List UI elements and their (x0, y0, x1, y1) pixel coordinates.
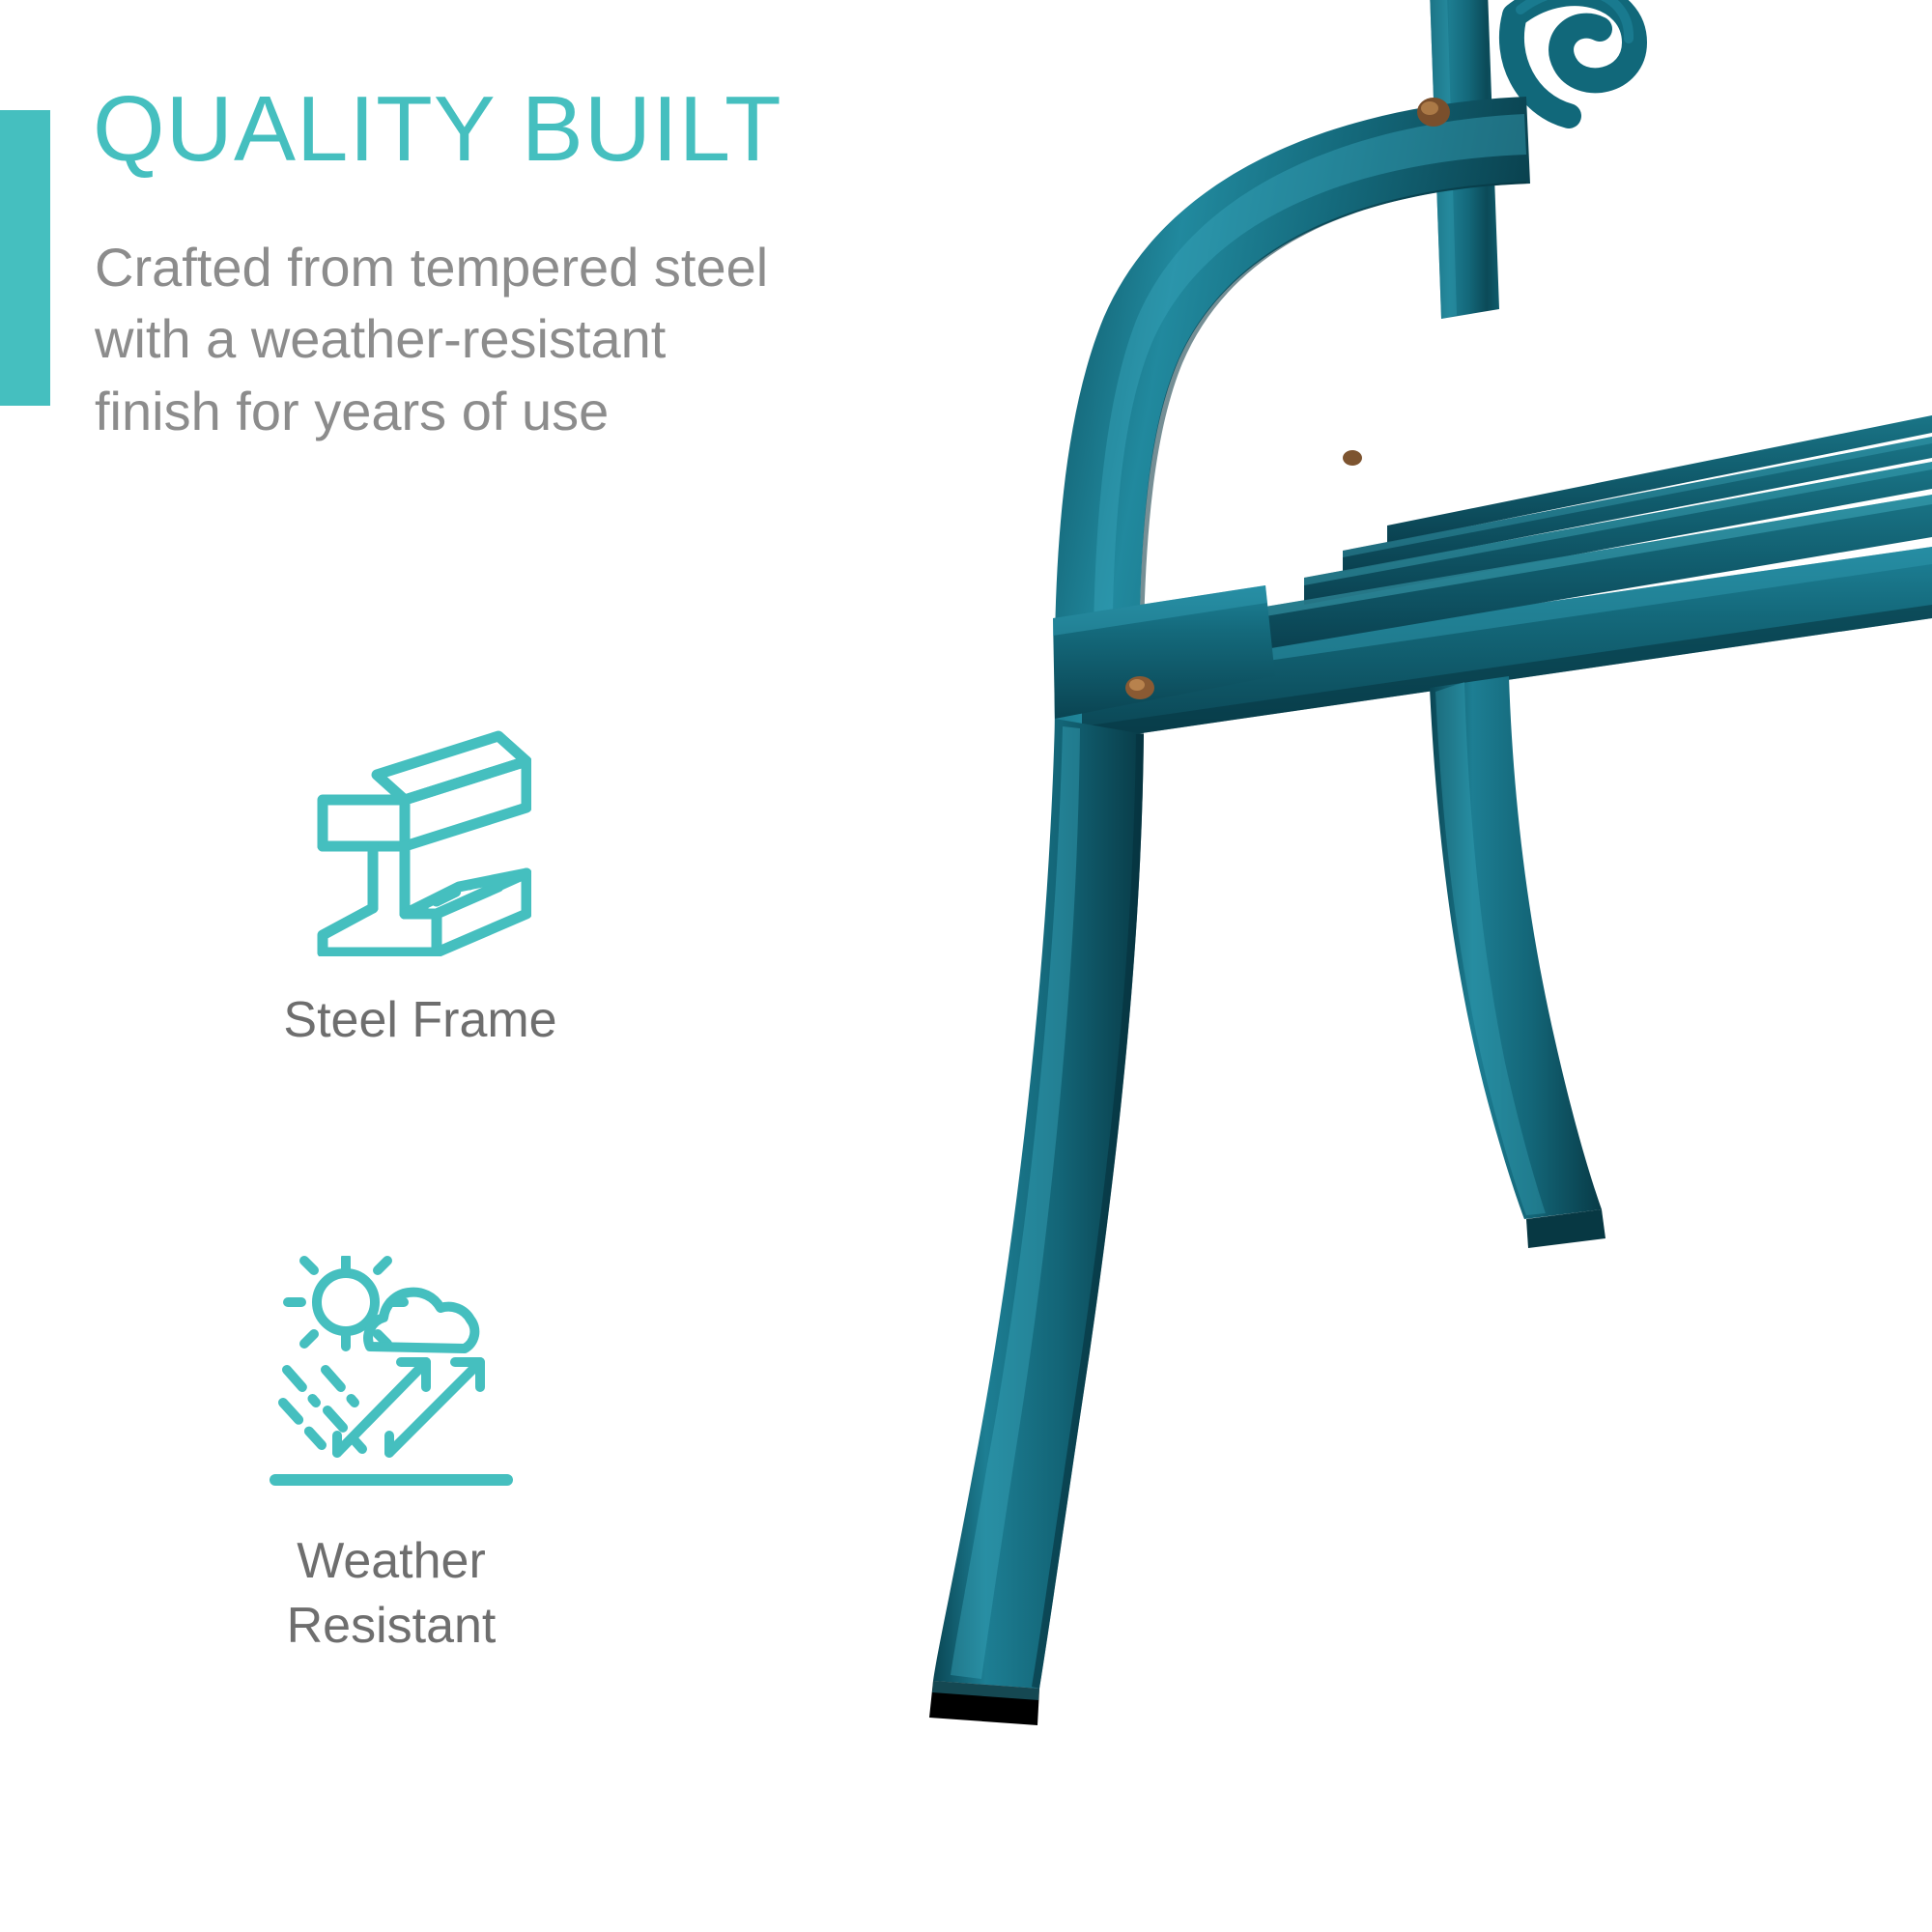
subtitle-line-2: with a weather-resistant (95, 303, 790, 375)
subtitle-line-3: finish for years of use (95, 376, 790, 447)
feature-weather-resistant: Weather Resistant (77, 1256, 705, 1658)
subtitle: Crafted from tempered steel with a weath… (95, 232, 790, 447)
marketing-infographic: QUALITY BUILT Crafted from tempered stee… (0, 0, 1932, 1932)
accent-bar (0, 110, 50, 406)
product-photo (850, 0, 1932, 1932)
feature-label: Steel Frame (106, 988, 734, 1053)
subtitle-line-1: Crafted from tempered steel (95, 232, 790, 303)
page-title: QUALITY BUILT (93, 83, 782, 176)
feature-label: Weather Resistant (77, 1529, 705, 1658)
feature-steel-frame: Steel Frame (106, 715, 734, 1053)
sun-cloud-deflect-icon (77, 1256, 705, 1502)
i-beam-icon (106, 715, 734, 961)
